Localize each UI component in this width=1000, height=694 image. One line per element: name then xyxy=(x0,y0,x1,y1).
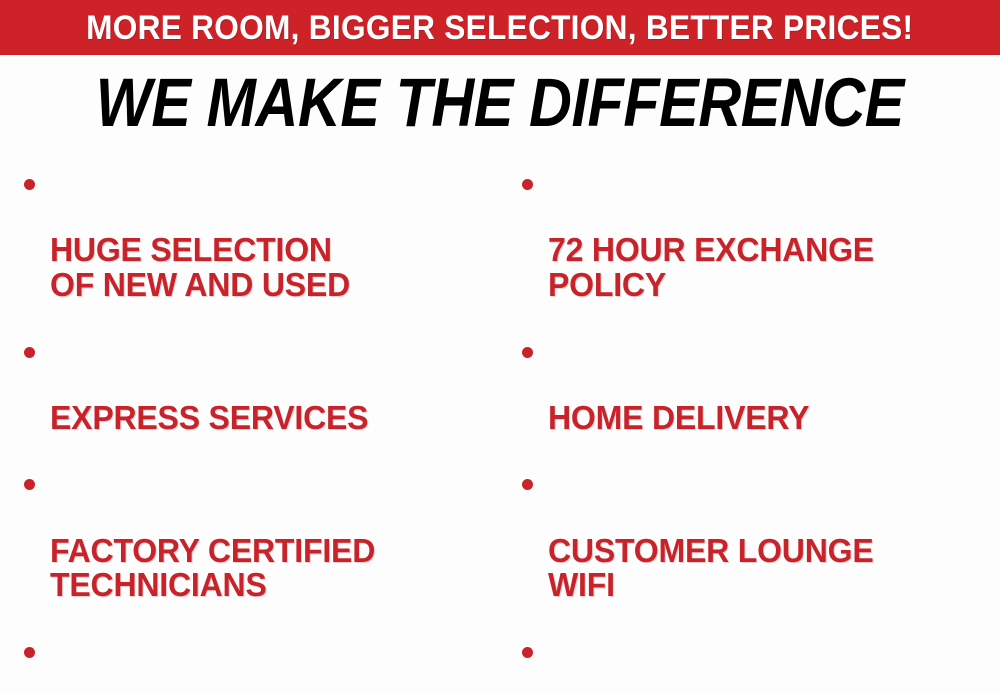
list-item: EXPRESS SERVICES xyxy=(14,332,496,436)
benefits-column-right: 72 HOUR EXCHANGE POLICY HOME DELIVERY CU… xyxy=(500,152,1000,694)
list-item: COMPLIMENTARY LOANER CARS xyxy=(14,632,496,694)
top-banner: MORE ROOM, BIGGER SELECTION, BETTER PRIC… xyxy=(0,0,1000,55)
list-item-label: HUGE SELECTION OF NEW AND USED xyxy=(50,233,350,302)
list-item: HOME DELIVERY xyxy=(512,332,1000,436)
list-item: HUGE SELECTION OF NEW AND USED xyxy=(14,164,496,303)
benefits-columns: HUGE SELECTION OF NEW AND USED EXPRESS S… xyxy=(0,152,1000,694)
bullet-icon xyxy=(522,347,533,358)
list-item-label: 72 HOUR EXCHANGE POLICY xyxy=(548,233,874,302)
banner-headline-text: MORE ROOM, BIGGER SELECTION, BETTER PRIC… xyxy=(86,11,913,45)
list-item: FACTORY CERTIFIED TECHNICIANS xyxy=(14,464,496,603)
page-title: WE MAKE THE DIFFERENCE xyxy=(96,68,904,137)
headline-container: WE MAKE THE DIFFERENCE xyxy=(0,60,1000,145)
bullet-icon xyxy=(522,479,533,490)
bullet-icon xyxy=(522,179,533,190)
list-item-label: CUSTOMER LOUNGE WIFI xyxy=(548,534,874,603)
list-item: CUSTOMER LOUNGE WIFI xyxy=(512,464,1000,603)
list-item-label: EXPRESS SERVICES xyxy=(50,401,368,436)
bullet-icon xyxy=(522,647,533,658)
bullet-icon xyxy=(24,479,35,490)
list-item-label: FACTORY CERTIFIED TECHNICIANS xyxy=(50,534,375,603)
list-item: MILITARY DISCOUNTS xyxy=(512,632,1000,694)
bullet-icon xyxy=(24,647,35,658)
bullet-icon xyxy=(24,347,35,358)
list-item: 72 HOUR EXCHANGE POLICY xyxy=(512,164,1000,303)
promo-poster: MORE ROOM, BIGGER SELECTION, BETTER PRIC… xyxy=(0,0,1000,694)
list-item-label: HOME DELIVERY xyxy=(548,401,809,436)
bullet-icon xyxy=(24,179,35,190)
benefits-column-left: HUGE SELECTION OF NEW AND USED EXPRESS S… xyxy=(0,152,500,694)
